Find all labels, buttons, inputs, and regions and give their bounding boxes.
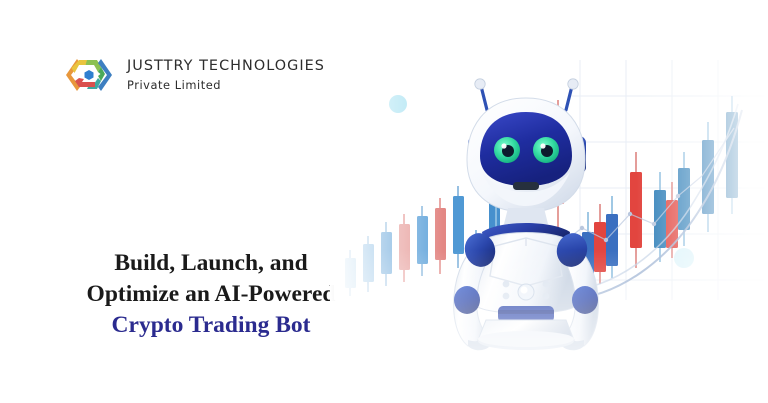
logo-text-block: JUSTTRY TECHNOLOGIES Private Limited [127,59,325,91]
logo-company-name: JUSTTRY TECHNOLOGIES [127,59,325,73]
ai-crypto-trading-robot-illustration [330,0,768,403]
artwork-svg [330,0,768,403]
company-logo[interactable]: JUSTTRY TECHNOLOGIES Private Limited [62,50,325,100]
logo-company-suffix: Private Limited [127,80,325,91]
justtry-hexagon-logo-icon [62,50,116,100]
banner-root: JUSTTRY TECHNOLOGIES Private Limited Bui… [0,0,768,403]
right-white-fade [330,0,768,403]
